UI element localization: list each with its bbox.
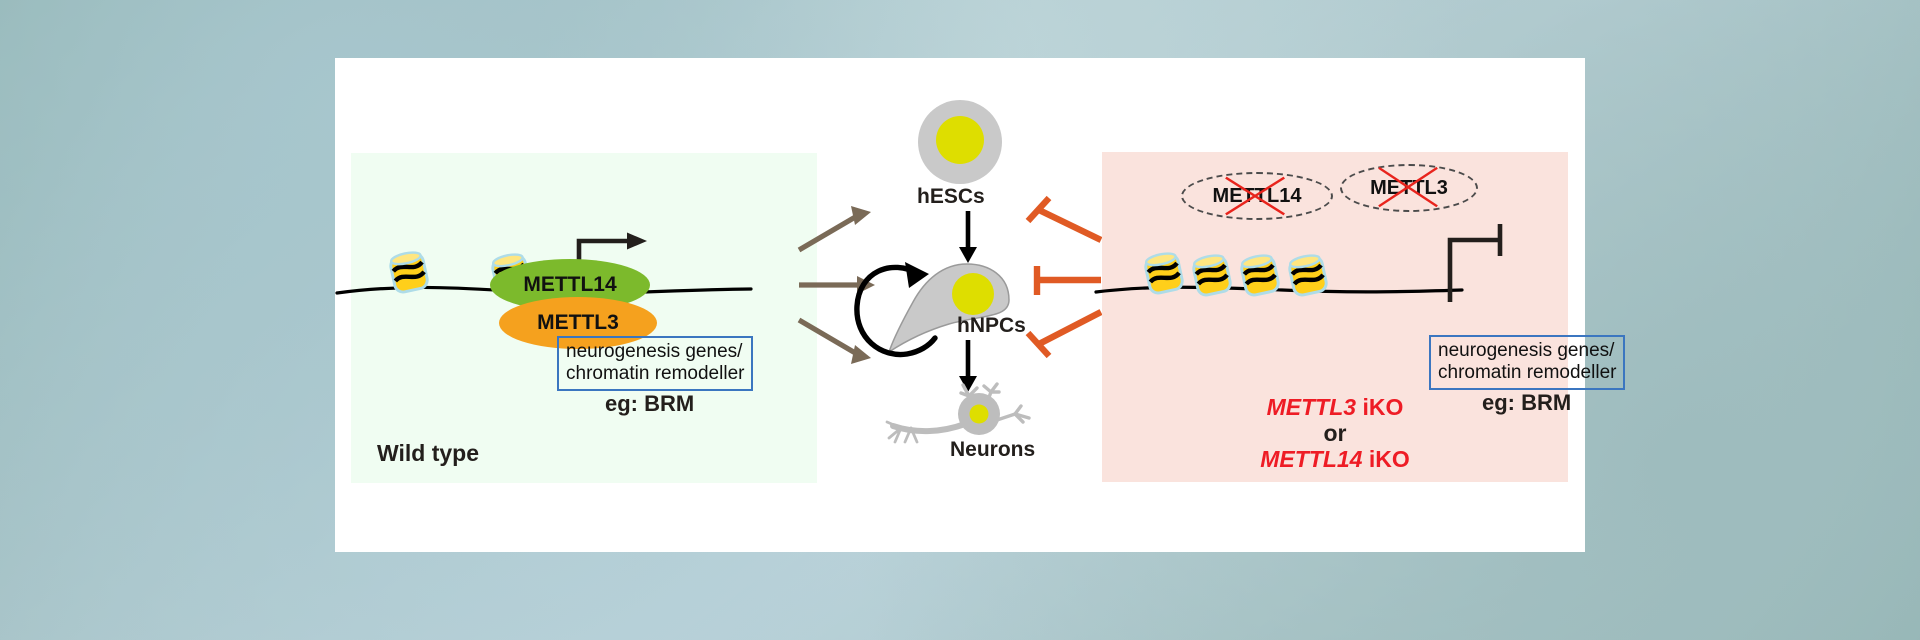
ko-suffix-2: iKO [1362,446,1409,472]
gene-box-line-1: neurogenesis genes/ [566,341,744,363]
nucleosome-icon [1193,253,1230,294]
red-x-icon [1183,174,1331,218]
ko-panel-label: METTL3 iKO or METTL14 iKO [1102,394,1568,472]
ko-gene-name-1: METTL3 [1267,394,1356,420]
gene-box-line-2: chromatin remodeller [566,363,744,385]
wild-type-example-label: eg: BRM [605,391,694,417]
nucleosome-icon [1289,253,1326,294]
mettl3-knockout-badge: METTL3 [1340,164,1478,212]
ko-gene-name-2: METTL14 [1260,446,1362,472]
ko-panel: METTL14 METTL3 [1102,152,1568,482]
ko-label-line-3: METTL14 iKO [1102,446,1568,472]
figure-card: METTL14 METTL3 neurogenesis genes/ chrom… [335,58,1585,552]
repression-bar-icon [1444,230,1554,305]
nucleosome-icon [1145,251,1182,292]
figure-background: METTL14 METTL3 neurogenesis genes/ chrom… [0,0,1920,640]
ko-label-line-1: METTL3 iKO [1102,394,1568,420]
ko-label-line-2: or [1102,420,1568,446]
hesc-cell-icon [905,96,1015,192]
ko-suffix-1: iKO [1356,394,1403,420]
hesc-label: hESCs [917,185,985,209]
hesc-to-hnpc-arrow [953,211,983,265]
mettl3-label: METTL3 [537,311,619,335]
ko-gene-box: neurogenesis genes/ chromatin remodeller [1429,335,1625,390]
gene-box-line-1: neurogenesis genes/ [1438,340,1616,362]
nucleosome-icon [1241,253,1278,294]
mettl14-knockout-badge: METTL14 [1181,172,1333,220]
red-x-icon [1342,166,1476,210]
wild-type-panel: METTL14 METTL3 neurogenesis genes/ chrom… [351,153,817,483]
neuron-label: Neurons [950,438,1035,462]
gene-box-line-2: chromatin remodeller [1438,362,1616,384]
nucleosome-icon [390,250,427,291]
mettl14-label: METTL14 [523,273,616,297]
wild-type-panel-label: Wild type [377,440,479,467]
differentiation-column: hESCs hNPCs [833,78,1101,538]
self-renewal-arrow-icon [847,258,951,366]
wild-type-gene-box: neurogenesis genes/ chromatin remodeller [557,336,753,391]
